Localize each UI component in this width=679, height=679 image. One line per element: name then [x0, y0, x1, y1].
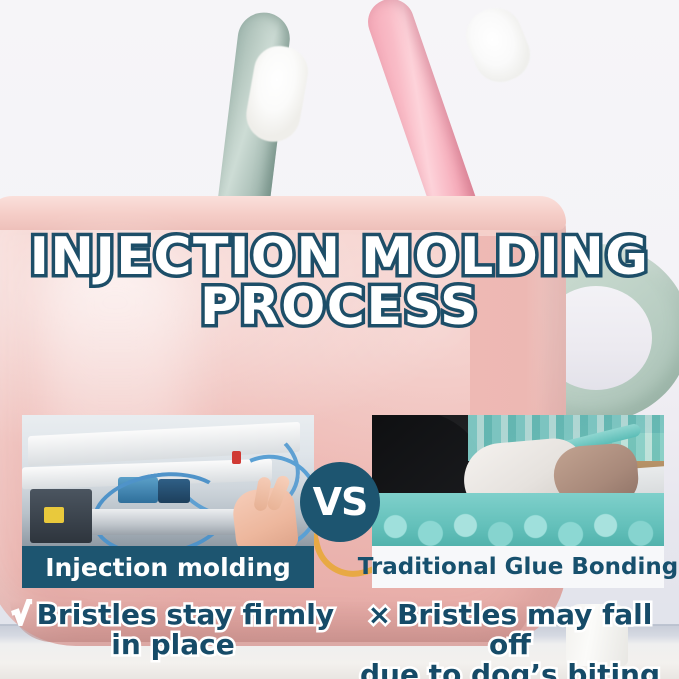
- pink-mug-rim: [0, 196, 566, 230]
- machine-warning-label: [44, 507, 64, 523]
- checkmark-icon: √: [12, 600, 31, 630]
- panel-glue-bonding-photo: [372, 415, 664, 546]
- cross-icon: ×: [368, 600, 391, 630]
- caption-left-text: Bristles stay firmly in place: [37, 598, 334, 661]
- panel-injection-molding-photo: [22, 415, 314, 546]
- caption-right-text: Bristles may fall off due to dog’s bitin…: [360, 598, 660, 679]
- page-title: INJECTION MOLDING PROCESS: [0, 232, 679, 332]
- toothbrush-heads-row-front: [372, 493, 664, 546]
- caption-left: √Bristles stay firmly in place: [8, 600, 338, 660]
- vs-badge: VS: [300, 462, 380, 542]
- product-marketing-image: INJECTION MOLDING PROCESS VS Inject: [0, 0, 679, 679]
- label-injection-molding: Injection molding: [22, 546, 314, 588]
- label-traditional-glue-bonding: Traditional Glue Bonding: [372, 546, 664, 588]
- caption-right: ×Bristles may fall off due to dog’s biti…: [345, 600, 675, 679]
- vs-badge-label: VS: [313, 480, 368, 524]
- machine-indicator-light: [232, 451, 241, 464]
